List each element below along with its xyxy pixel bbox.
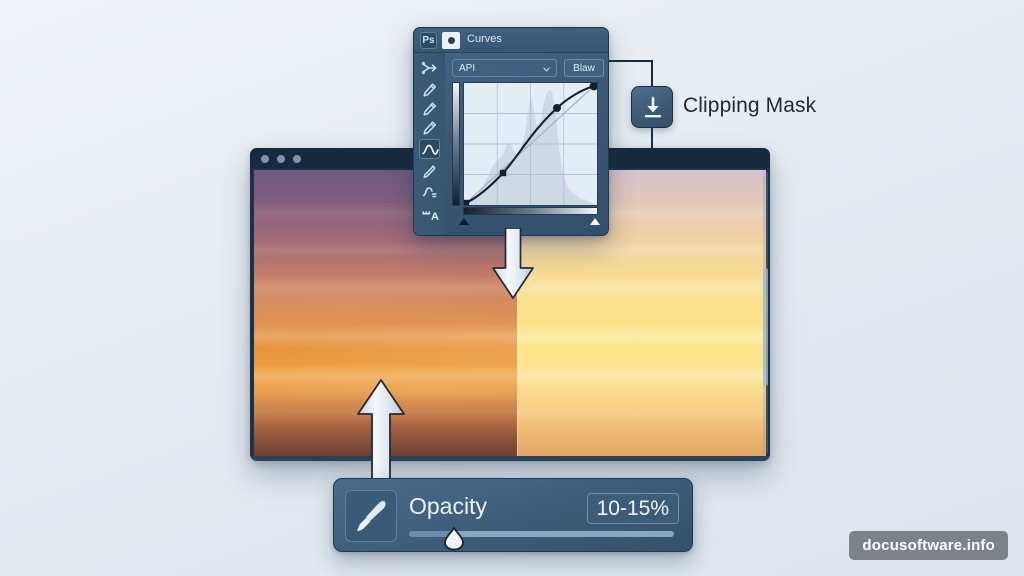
eyedropper-gray-point-icon [421,101,438,117]
brush-icon [355,500,389,534]
photoshop-badge-icon: Ps [420,32,437,49]
blaw-button[interactable]: Blaw [564,59,604,77]
curves-panel[interactable]: Ps Curves [413,27,609,236]
curves-preset-row: API Blaw [452,59,604,77]
svg-text:A: A [431,211,439,223]
eyedropper-black-point-button[interactable] [419,80,440,100]
window-scrollbar-thumb[interactable] [763,268,768,386]
window-close-dot[interactable] [261,155,269,163]
white-point-handle[interactable] [590,218,600,225]
output-gradient-ramp [452,82,460,206]
pencil-tool-button[interactable] [419,162,440,182]
screenshot-root: Clipping Mask Ps Curves [0,0,1024,576]
opacity-label: Opacity [409,493,487,520]
smooth-curve-button[interactable] [419,182,440,202]
curves-panel-title: Curves [467,33,502,45]
brush-tile[interactable] [345,490,397,542]
window-maximize-dot[interactable] [293,155,301,163]
connector-line-horizontal [608,60,653,62]
opacity-control-bar[interactable]: Opacity 10-15% [333,478,693,552]
curves-graph-svg [464,83,597,205]
curves-tool-rail: A [414,53,445,235]
window-minimize-dot[interactable] [277,155,285,163]
eyedropper-gray-point-button[interactable] [419,99,440,119]
smooth-curve-icon [421,184,438,200]
preset-arrow-icon [421,60,438,76]
curves-panel-header: Ps Curves [414,28,608,53]
curves-graph[interactable] [463,82,598,206]
opacity-value-badge[interactable]: 10-15% [587,493,679,524]
input-gradient-ramp [463,207,598,215]
curve-tool-button[interactable] [419,139,440,159]
auto-adjust-icon: A [421,207,440,223]
auto-adjust-button[interactable]: A [419,205,440,225]
opacity-slider-handle[interactable] [441,525,467,551]
watermark: docusoftware.info [849,531,1008,560]
clipping-mask-label: Clipping Mask [683,94,816,118]
chevron-down-icon [543,66,550,73]
opacity-slider-track[interactable] [409,531,674,537]
eyedropper-white-point-icon [421,120,438,136]
preset-arrow-icon-button[interactable] [419,58,440,78]
black-point-handle[interactable] [459,218,469,225]
clipping-mask-badge[interactable] [631,86,673,128]
eyedropper-white-point-button[interactable] [419,118,440,138]
eyedropper-black-point-icon [421,82,438,98]
window-bottom-strip [250,456,770,461]
pencil-tool-icon [421,164,438,180]
curves-graph-wrap [452,82,598,216]
arrow-down-to-line-icon [640,95,666,121]
window-scrollbar[interactable] [763,172,768,454]
adjustment-layer-icon[interactable] [442,32,460,49]
arrow-up-icon [354,378,408,486]
preset-select-value: API [459,63,475,74]
arrow-down-icon [488,228,538,300]
curve-tool-icon [421,141,440,159]
preset-select[interactable]: API [452,59,557,77]
horizon-band-after [517,390,766,456]
